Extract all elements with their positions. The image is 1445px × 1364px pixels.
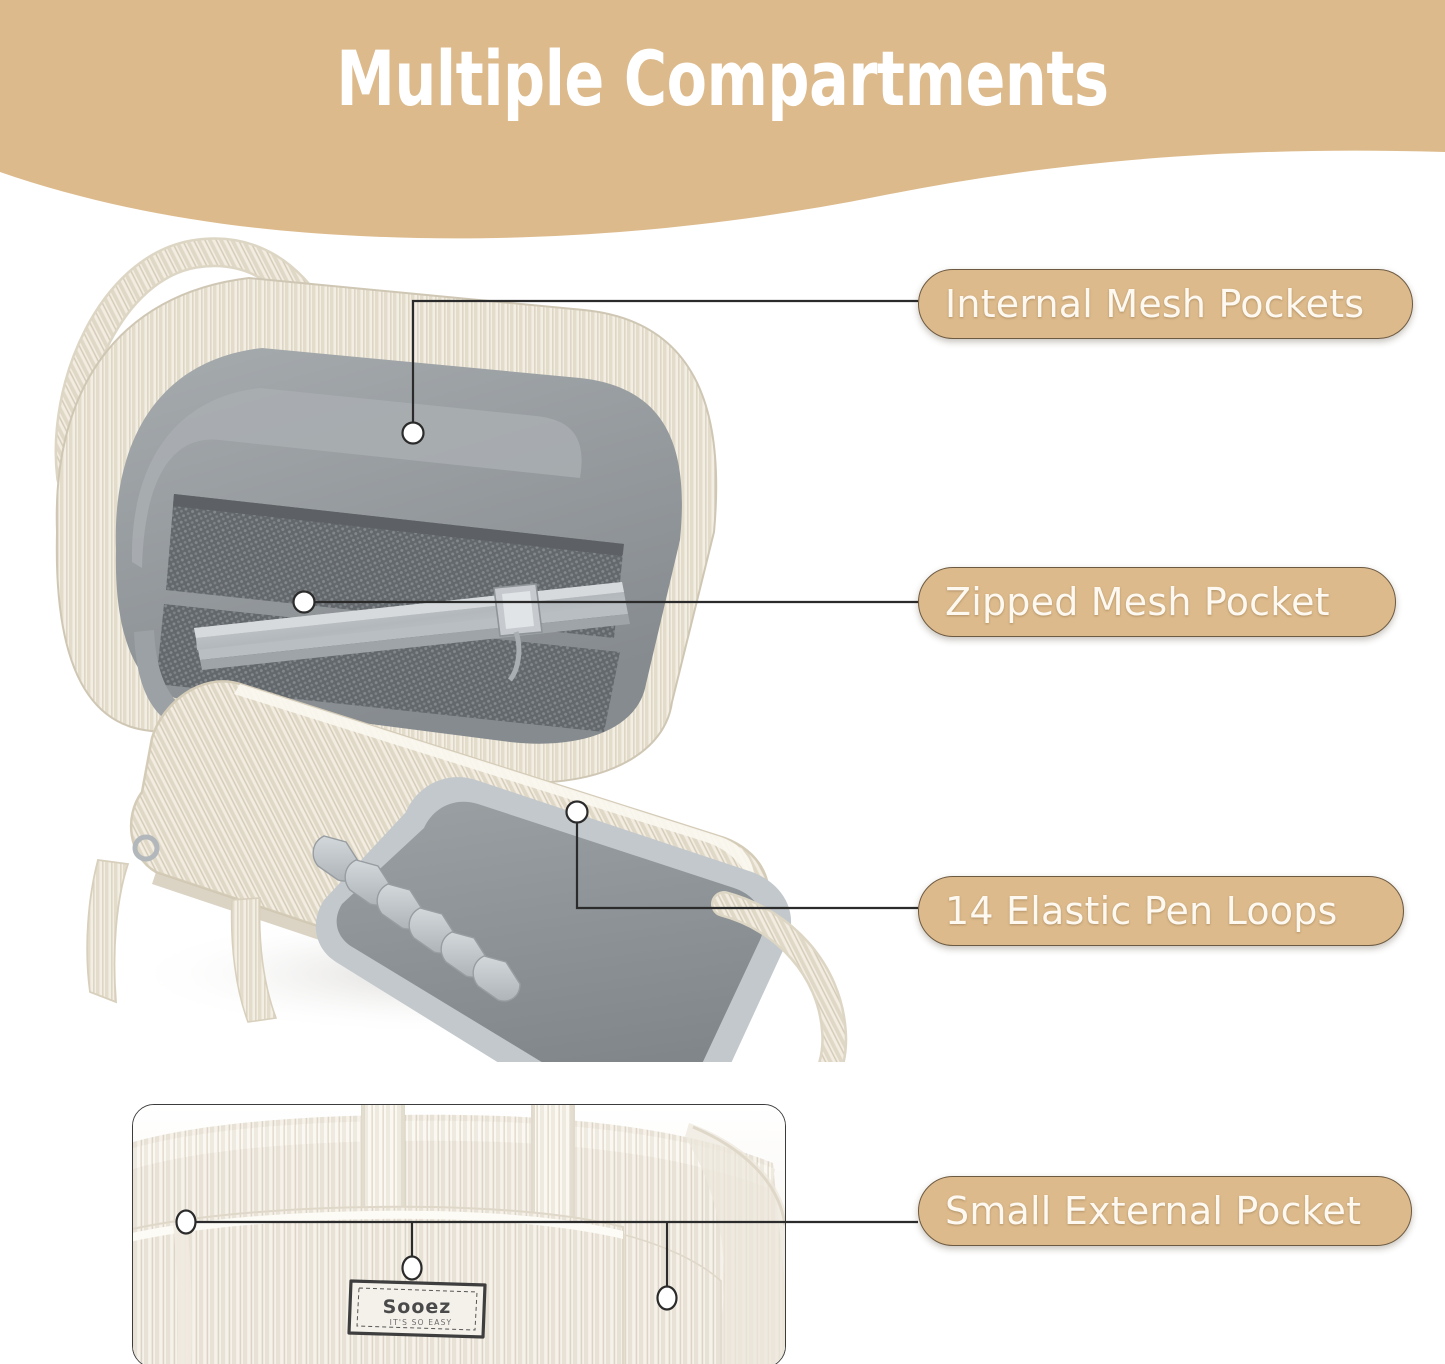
callout-label-elastic-pen-loops[interactable]: 14 Elastic Pen Loops [918, 876, 1404, 946]
header-banner: Multiple Compartments [0, 0, 1445, 245]
brand-patch: Sooez IT'S SO EASY [349, 1281, 485, 1337]
callout-label-zipped-mesh-pocket[interactable]: Zipped Mesh Pocket [918, 567, 1396, 637]
bottom-product-photo: Sooez IT'S SO EASY [132, 1104, 786, 1364]
closed-pencil-case-illustration: Sooez IT'S SO EASY [133, 1105, 785, 1364]
callout-label-small-external-pocket[interactable]: Small External Pocket [918, 1176, 1412, 1246]
svg-text:IT'S SO EASY: IT'S SO EASY [390, 1318, 453, 1327]
open-pencil-case-illustration [24, 232, 904, 1062]
callout-label-text: 14 Elastic Pen Loops [945, 890, 1338, 932]
main-product-photo [24, 232, 904, 1062]
callout-label-internal-mesh-pockets[interactable]: Internal Mesh Pockets [918, 269, 1413, 339]
svg-text:Sooez: Sooez [383, 1296, 452, 1318]
infographic-canvas: Multiple Compartments [0, 0, 1445, 1364]
callout-label-text: Zipped Mesh Pocket [945, 581, 1330, 623]
page-title: Multiple Compartments [101, 36, 1344, 122]
callout-label-text: Internal Mesh Pockets [945, 283, 1364, 325]
callout-label-text: Small External Pocket [945, 1190, 1361, 1232]
